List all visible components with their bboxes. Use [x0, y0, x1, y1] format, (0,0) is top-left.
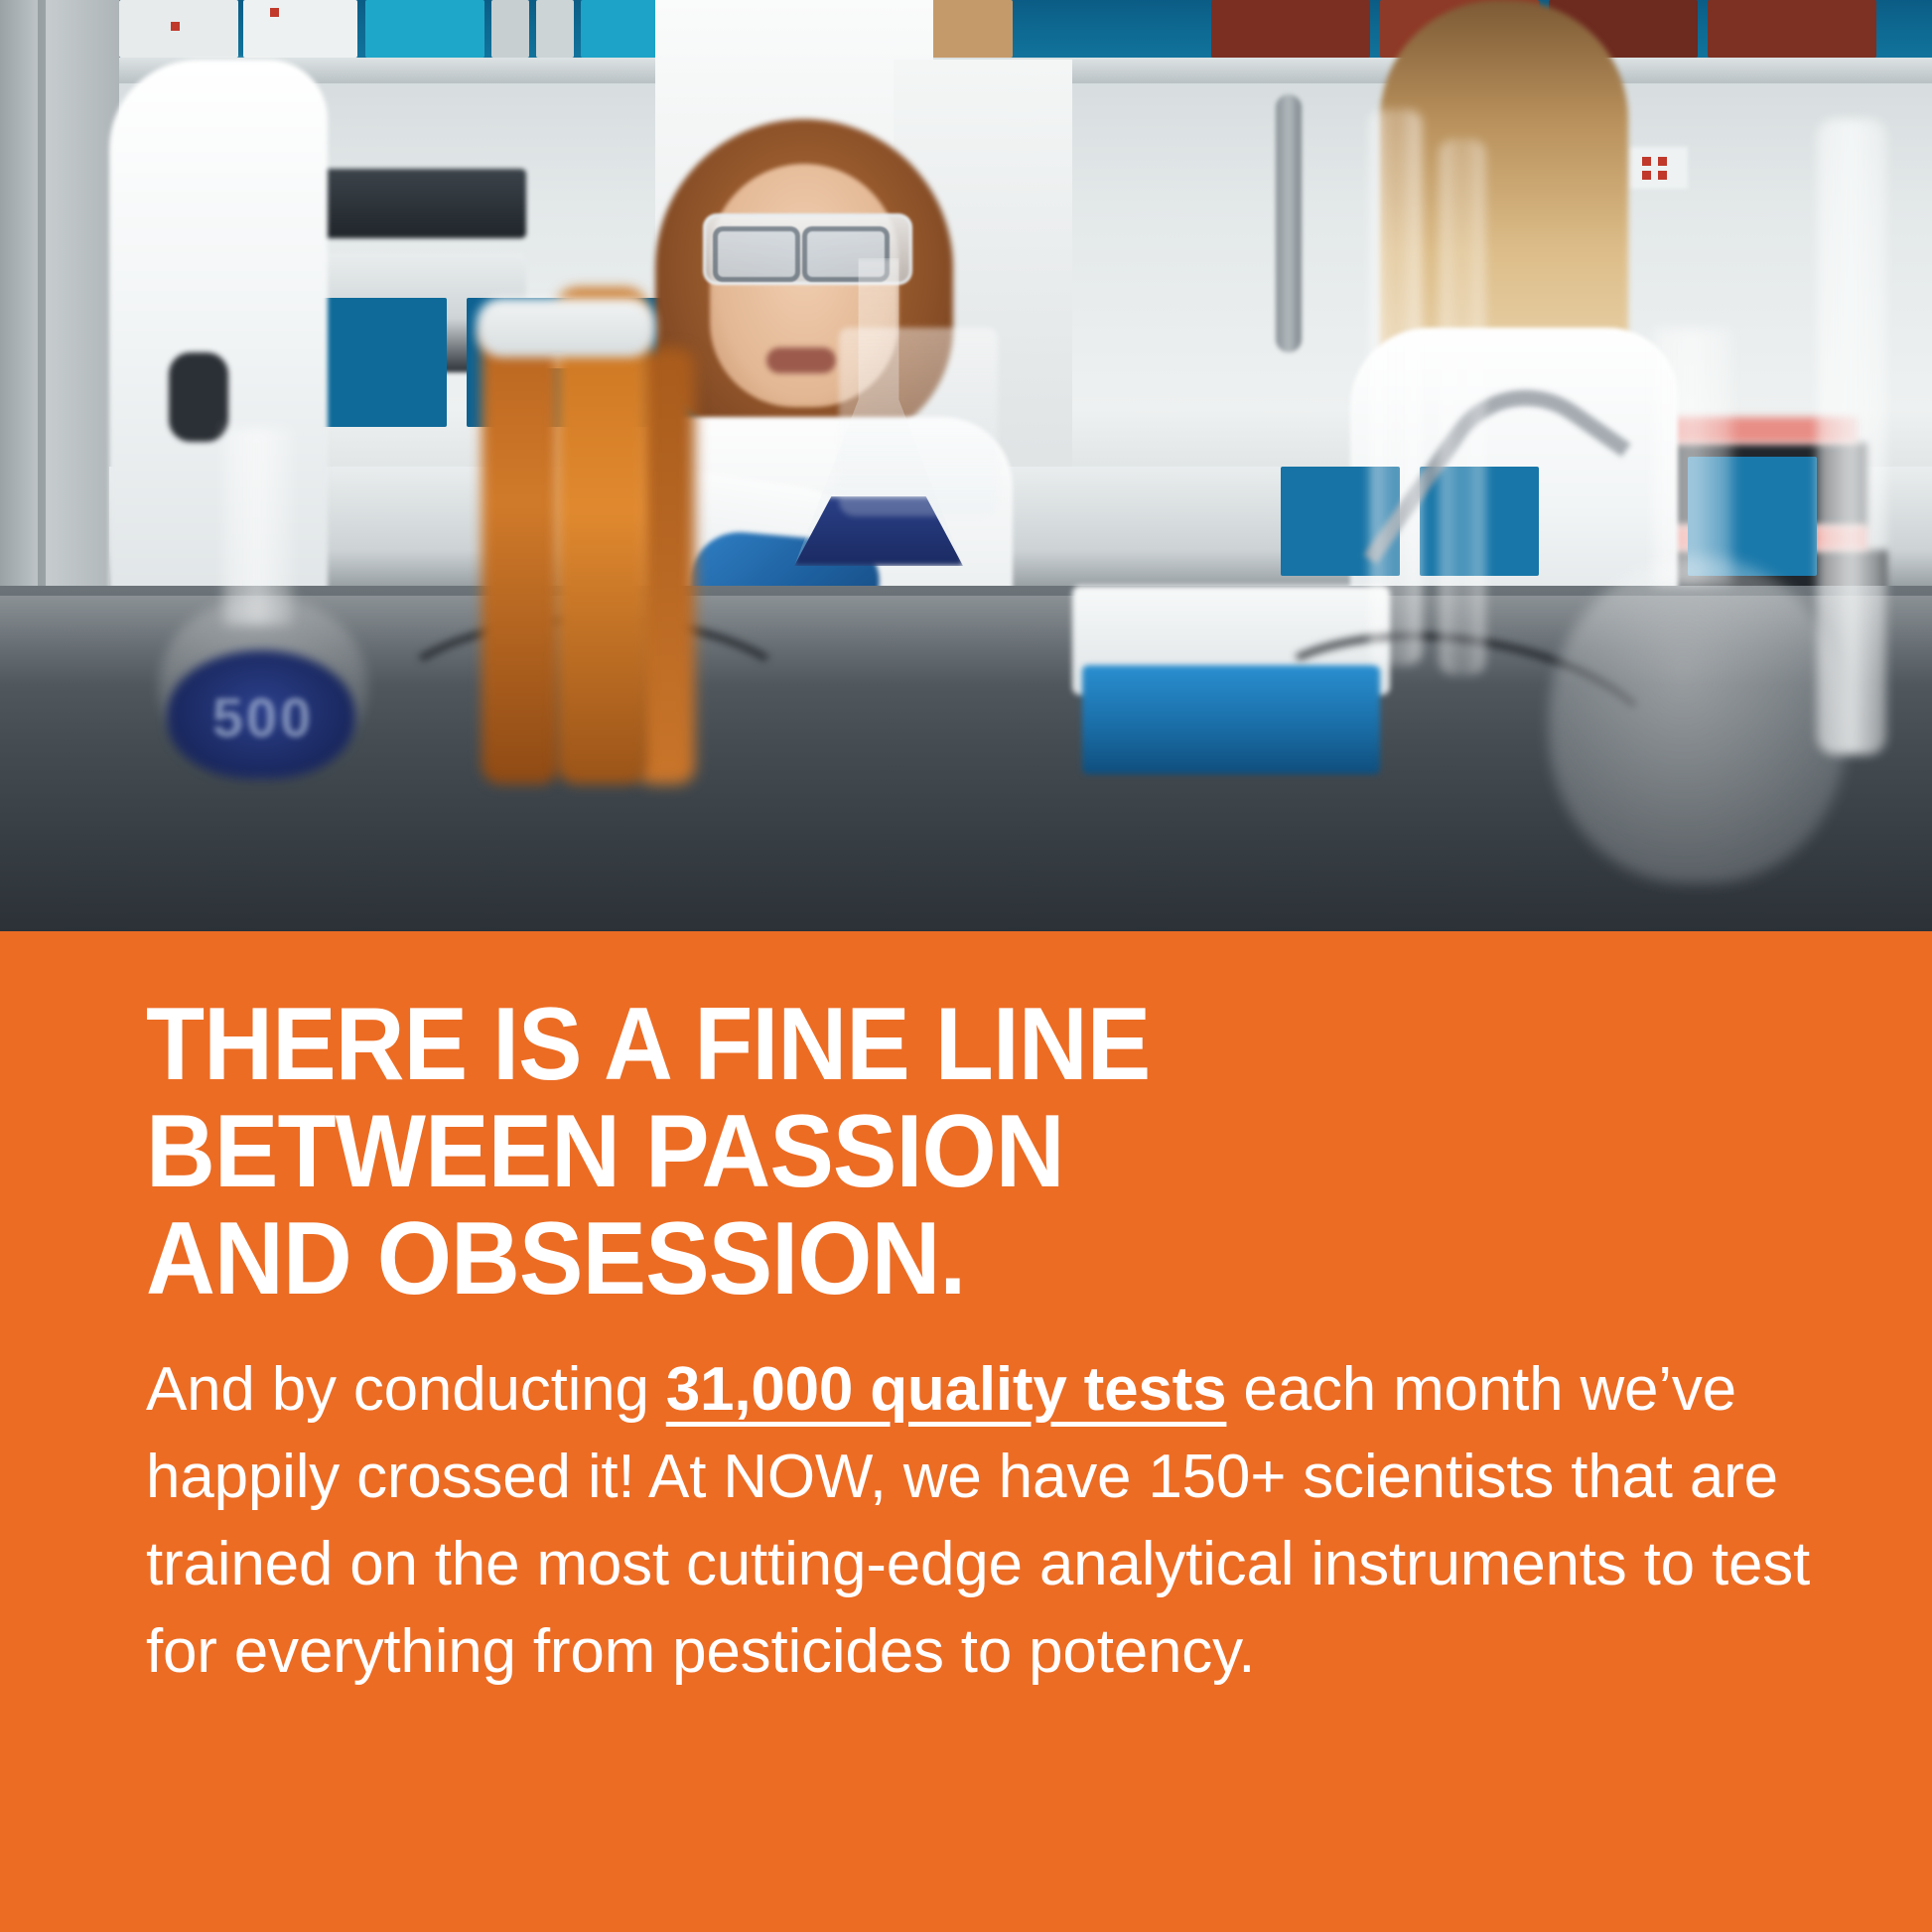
gloved-hand-left — [169, 352, 228, 442]
promo-card: 500 THERE IS A FINE LINE BETWEEN PASSION… — [0, 0, 1932, 1932]
volumetric-flask — [1549, 556, 1847, 884]
lab-photo: 500 — [0, 0, 1932, 931]
shelf-box — [1708, 0, 1876, 58]
amber-glassware — [482, 318, 559, 784]
shelf-box — [243, 0, 357, 58]
beaker — [839, 328, 998, 516]
shelf-box — [491, 0, 529, 58]
amber-glassware — [556, 288, 647, 784]
box-label-dot — [270, 8, 279, 17]
flask-volume-label: 500 — [194, 685, 333, 741]
graduated-cylinder — [1370, 109, 1422, 665]
headline: THERE IS A FINE LINE BETWEEN PASSION AND… — [146, 991, 1706, 1312]
body-copy: And by conducting 31,000 quality tests e… — [146, 1346, 1823, 1696]
glassware-cap — [477, 298, 655, 357]
shelf-box — [536, 0, 574, 58]
lab-hose — [1276, 94, 1302, 352]
box-label-dot — [171, 22, 180, 31]
shelf-box — [365, 0, 484, 58]
mouth — [766, 347, 836, 373]
body-before: And by conducting — [146, 1355, 666, 1424]
quality-tests-highlight: 31,000 quality tests — [666, 1355, 1227, 1424]
graduated-cylinder — [1440, 139, 1485, 675]
scientist-left — [109, 60, 328, 616]
eyeglass-lens — [713, 226, 800, 282]
flask-neck — [1653, 328, 1732, 586]
text-block: THERE IS A FINE LINE BETWEEN PASSION AND… — [146, 991, 1823, 1696]
graduated-cylinder — [1817, 119, 1886, 755]
orange-text-panel: THERE IS A FINE LINE BETWEEN PASSION AND… — [0, 931, 1932, 1932]
